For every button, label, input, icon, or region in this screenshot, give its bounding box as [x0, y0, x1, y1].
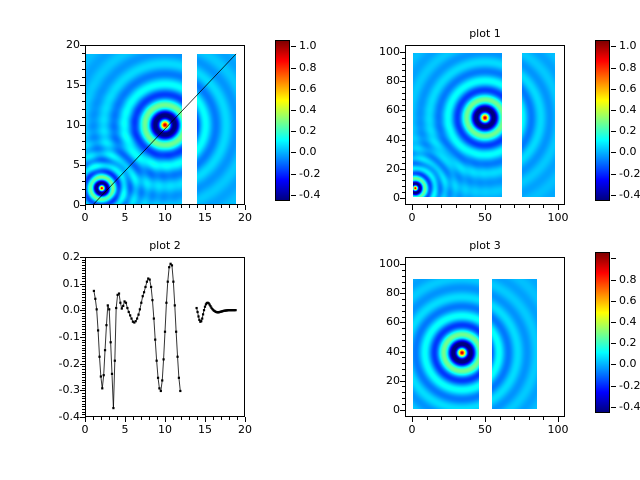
ytick-minor — [402, 311, 405, 312]
ytick-minor — [82, 406, 85, 407]
ytick-minor — [82, 181, 85, 182]
ytick-minor — [82, 414, 85, 415]
xtick-minor — [101, 205, 102, 208]
colorbar-gradient-top-left — [276, 41, 289, 200]
ytick-major — [400, 381, 405, 382]
ytick-minor — [402, 186, 405, 187]
xtick-minor — [149, 205, 150, 208]
colorbar-ticklabel: -0.4 — [619, 401, 640, 412]
colorbar-ticklabel: 0.4 — [619, 104, 637, 115]
xticklabel: 0 — [392, 212, 432, 223]
ytick-minor — [402, 174, 405, 175]
colorbar-ticklabel: 0.6 — [299, 83, 317, 94]
colorbar-ticklabel: 0.2 — [619, 125, 637, 136]
xtick-minor — [149, 417, 150, 420]
ytick-minor — [82, 292, 85, 293]
yticklabel: 20 — [357, 163, 400, 174]
colorbar-tick — [611, 258, 616, 259]
xticklabel: 5 — [105, 424, 145, 435]
colorbar-tick — [611, 152, 616, 153]
xtick-minor — [189, 205, 190, 208]
ytick-minor — [82, 313, 85, 314]
colorbar-tick — [611, 68, 616, 69]
ytick-minor — [402, 282, 405, 283]
ytick-minor — [82, 366, 85, 367]
ytick-major — [400, 198, 405, 199]
xtick-minor — [173, 417, 174, 420]
ytick-minor — [82, 189, 85, 190]
ytick-minor — [402, 340, 405, 341]
xtick-minor — [427, 205, 428, 208]
xtick-major — [85, 205, 86, 210]
ytick-minor — [82, 289, 85, 290]
colorbar-gradient-bottom-right — [596, 253, 609, 412]
ytick-minor — [402, 317, 405, 318]
xtick-major — [125, 417, 126, 422]
yticklabel: 80 — [357, 75, 400, 86]
ytick-minor — [82, 101, 85, 102]
yticklabel: 20 — [357, 375, 400, 386]
colorbar-ticklabel: 0.6 — [619, 83, 637, 94]
ytick-minor — [82, 409, 85, 410]
colorbar-tick — [611, 46, 616, 47]
ytick-minor — [82, 377, 85, 378]
ytick-minor — [402, 346, 405, 347]
ytick-minor — [82, 173, 85, 174]
ytick-minor — [82, 305, 85, 306]
axes-frame-top-left — [85, 45, 245, 205]
colorbar-tick — [291, 89, 296, 90]
ytick-minor — [82, 329, 85, 330]
xtick-minor — [456, 205, 457, 208]
colorbar-tick — [291, 68, 296, 69]
colorbar-top-right — [595, 40, 610, 201]
ytick-minor — [402, 58, 405, 59]
ytick-minor — [402, 299, 405, 300]
ytick-minor — [82, 353, 85, 354]
ytick-minor — [402, 305, 405, 306]
colorbar-ticklabel: -0.2 — [619, 380, 640, 391]
xtick-minor — [157, 205, 158, 208]
ytick-minor — [82, 369, 85, 370]
ytick-major — [80, 85, 85, 86]
colorbar-tick — [611, 407, 616, 408]
ytick-major — [80, 417, 85, 418]
ytick-minor — [82, 268, 85, 269]
colorbar-tick — [611, 301, 616, 302]
ytick-minor — [82, 281, 85, 282]
xtick-minor — [514, 205, 515, 208]
xtick-minor — [173, 205, 174, 208]
ytick-major — [400, 352, 405, 353]
xtick-minor — [543, 417, 544, 420]
xtick-minor — [229, 417, 230, 420]
colorbar-tick — [611, 343, 616, 344]
ytick-major — [80, 337, 85, 338]
xtick-minor — [500, 417, 501, 420]
xtick-minor — [529, 205, 530, 208]
xticklabel: 50 — [465, 424, 505, 435]
xticklabel: 100 — [538, 212, 578, 223]
colorbar-ticklabel: 1.0 — [619, 40, 637, 51]
ytick-minor — [402, 357, 405, 358]
ytick-minor — [82, 133, 85, 134]
ytick-minor — [82, 334, 85, 335]
ytick-minor — [82, 380, 85, 381]
xtick-minor — [441, 417, 442, 420]
xticklabel: 15 — [185, 424, 225, 435]
colorbar-ticklabel: 0.4 — [619, 316, 637, 327]
ytick-minor — [82, 117, 85, 118]
xtick-major — [165, 205, 166, 210]
xtick-minor — [529, 417, 530, 420]
xtick-minor — [221, 205, 222, 208]
xtick-minor — [141, 205, 142, 208]
ytick-minor — [82, 93, 85, 94]
xticklabel: 50 — [465, 212, 505, 223]
xtick-minor — [237, 417, 238, 420]
xtick-minor — [141, 417, 142, 420]
heatmap-top-left — [86, 46, 244, 204]
ytick-minor — [82, 308, 85, 309]
axes-frame-bottom-right — [405, 257, 565, 417]
colorbar-tick — [291, 110, 296, 111]
ytick-minor — [402, 99, 405, 100]
xtick-major — [245, 205, 246, 210]
ytick-minor — [402, 93, 405, 94]
yticklabel: 100 — [357, 258, 400, 269]
yticklabel: 0 — [37, 199, 80, 210]
ytick-major — [80, 205, 85, 206]
ytick-minor — [82, 404, 85, 405]
ytick-minor — [402, 386, 405, 387]
ytick-minor — [402, 64, 405, 65]
colorbar-ticklabel: 0.8 — [619, 62, 637, 73]
ytick-minor — [402, 180, 405, 181]
ytick-minor — [82, 385, 85, 386]
ytick-minor — [82, 149, 85, 150]
yticklabel: 60 — [357, 316, 400, 327]
lineplot-bottom-left — [86, 258, 244, 416]
ytick-minor — [402, 404, 405, 405]
ytick-minor — [82, 141, 85, 142]
yticklabel: 0.1 — [37, 278, 80, 289]
ytick-minor — [402, 334, 405, 335]
colorbar-tick — [611, 322, 616, 323]
ytick-minor — [402, 76, 405, 77]
xtick-minor — [221, 417, 222, 420]
heatmap-top-right — [406, 46, 564, 204]
ytick-minor — [82, 332, 85, 333]
yticklabel: -0.3 — [37, 384, 80, 395]
xtick-major — [412, 205, 413, 210]
xtick-major — [558, 417, 559, 422]
xtick-minor — [456, 417, 457, 420]
yticklabel: 0.2 — [37, 251, 80, 262]
xtick-minor — [93, 417, 94, 420]
xtick-major — [125, 205, 126, 210]
ytick-minor — [82, 286, 85, 287]
ytick-minor — [82, 382, 85, 383]
ytick-major — [400, 293, 405, 294]
yticklabel: 10 — [37, 119, 80, 130]
colorbar-tick — [611, 195, 616, 196]
colorbar-tick — [291, 174, 296, 175]
ytick-major — [400, 81, 405, 82]
colorbar-tick — [291, 152, 296, 153]
xtick-major — [485, 205, 486, 210]
yticklabel: 0 — [357, 192, 400, 203]
ytick-minor — [82, 398, 85, 399]
ytick-minor — [402, 105, 405, 106]
xticklabel: 15 — [185, 212, 225, 223]
ytick-minor — [82, 342, 85, 343]
xtick-major — [558, 205, 559, 210]
xtick-minor — [470, 205, 471, 208]
xtick-major — [205, 205, 206, 210]
yticklabel: 5 — [37, 159, 80, 170]
xticklabel: 20 — [225, 212, 265, 223]
ytick-minor — [82, 273, 85, 274]
ytick-minor — [402, 398, 405, 399]
xtick-minor — [117, 205, 118, 208]
ytick-minor — [82, 326, 85, 327]
ytick-minor — [402, 163, 405, 164]
ytick-major — [80, 257, 85, 258]
xtick-minor — [197, 417, 198, 420]
xtick-minor — [514, 417, 515, 420]
xtick-minor — [470, 417, 471, 420]
ytick-minor — [402, 87, 405, 88]
ytick-minor — [82, 278, 85, 279]
yticklabel: 80 — [357, 287, 400, 298]
panel-title-bottom-right: plot 3 — [405, 240, 565, 252]
ytick-minor — [402, 328, 405, 329]
ytick-minor — [82, 265, 85, 266]
axes-frame-top-right — [405, 45, 565, 205]
xtick-minor — [427, 417, 428, 420]
colorbar-ticklabel: 0.4 — [299, 104, 317, 115]
ytick-minor — [82, 157, 85, 158]
yticklabel: 15 — [37, 79, 80, 90]
xtick-minor — [189, 417, 190, 420]
ytick-minor — [82, 374, 85, 375]
colorbar-ticklabel: 0.2 — [299, 125, 317, 136]
colorbar-gradient-top-right — [596, 41, 609, 200]
ytick-minor — [82, 401, 85, 402]
colorbar-ticklabel: -0.2 — [299, 168, 320, 179]
ytick-minor — [82, 372, 85, 373]
colorbar-ticklabel: 0.0 — [299, 146, 317, 157]
panel-title-top-right: plot 1 — [405, 28, 565, 40]
ytick-minor — [82, 53, 85, 54]
ytick-major — [400, 140, 405, 141]
colorbar-tick — [611, 280, 616, 281]
yticklabel: 40 — [357, 346, 400, 357]
ytick-minor — [82, 361, 85, 362]
ytick-minor — [402, 70, 405, 71]
yticklabel: 60 — [357, 104, 400, 115]
xtick-minor — [133, 417, 134, 420]
ytick-minor — [402, 288, 405, 289]
colorbar-tick — [611, 174, 616, 175]
xticklabel: 100 — [538, 424, 578, 435]
ytick-major — [80, 125, 85, 126]
xtick-minor — [157, 417, 158, 420]
colorbar-ticklabel: 0.8 — [619, 274, 637, 285]
xtick-minor — [543, 205, 544, 208]
ytick-minor — [82, 340, 85, 341]
colorbar-bottom-right — [595, 252, 610, 413]
ytick-minor — [402, 145, 405, 146]
ytick-major — [80, 364, 85, 365]
ytick-minor — [402, 375, 405, 376]
panel-title-bottom-left: plot 2 — [85, 240, 245, 252]
yticklabel: -0.1 — [37, 331, 80, 342]
ytick-minor — [82, 324, 85, 325]
ytick-major — [400, 110, 405, 111]
colorbar-top-left — [275, 40, 290, 201]
ytick-minor — [402, 192, 405, 193]
ytick-minor — [402, 369, 405, 370]
ytick-minor — [82, 297, 85, 298]
ytick-minor — [82, 276, 85, 277]
ytick-minor — [82, 77, 85, 78]
ytick-minor — [402, 157, 405, 158]
xtick-major — [245, 417, 246, 422]
xtick-minor — [213, 205, 214, 208]
ytick-minor — [82, 396, 85, 397]
colorbar-tick — [291, 195, 296, 196]
ytick-minor — [82, 302, 85, 303]
colorbar-ticklabel: 0.2 — [619, 337, 637, 348]
colorbar-ticklabel: -0.4 — [299, 189, 320, 200]
colorbar-tick — [611, 131, 616, 132]
xtick-major — [412, 417, 413, 422]
heatmap-bottom-right — [406, 258, 564, 416]
xtick-minor — [237, 205, 238, 208]
colorbar-ticklabel: -0.4 — [619, 189, 640, 200]
ytick-minor — [402, 128, 405, 129]
ytick-minor — [82, 270, 85, 271]
ytick-major — [400, 264, 405, 265]
ytick-minor — [402, 363, 405, 364]
xtick-minor — [109, 417, 110, 420]
ytick-minor — [82, 321, 85, 322]
ytick-major — [80, 390, 85, 391]
xtick-minor — [197, 205, 198, 208]
colorbar-ticklabel: 0.0 — [619, 358, 637, 369]
xtick-minor — [133, 205, 134, 208]
ytick-major — [400, 410, 405, 411]
xtick-minor — [181, 205, 182, 208]
ytick-minor — [402, 392, 405, 393]
ytick-minor — [402, 151, 405, 152]
colorbar-ticklabel: 0.6 — [619, 295, 637, 306]
yticklabel: 100 — [357, 46, 400, 57]
ytick-minor — [82, 316, 85, 317]
colorbar-ticklabel: 0.8 — [299, 62, 317, 73]
colorbar-tick — [611, 89, 616, 90]
xtick-minor — [181, 417, 182, 420]
ytick-major — [80, 310, 85, 311]
xtick-major — [85, 417, 86, 422]
panel-top-right: plot 1 050100020406080100 1.00.80.60.40.… — [320, 0, 640, 240]
ytick-major — [400, 322, 405, 323]
ytick-minor — [402, 270, 405, 271]
yticklabel: -0.4 — [37, 411, 80, 422]
panel-bottom-left: plot 2 051015200.20.10.0-0.1-0.2-0.3-0.4 — [0, 240, 320, 480]
ytick-minor — [82, 345, 85, 346]
ytick-minor — [82, 300, 85, 301]
colorbar-ticklabel: 1.0 — [299, 40, 317, 51]
ytick-minor — [82, 388, 85, 389]
xtick-major — [485, 417, 486, 422]
colorbar-tick — [611, 110, 616, 111]
ytick-major — [80, 284, 85, 285]
yticklabel: 40 — [357, 134, 400, 145]
ytick-major — [80, 165, 85, 166]
xtick-major — [205, 417, 206, 422]
ytick-minor — [82, 348, 85, 349]
ytick-minor — [82, 109, 85, 110]
ytick-minor — [82, 358, 85, 359]
xticklabel: 20 — [225, 424, 265, 435]
colorbar-tick — [611, 386, 616, 387]
xtick-minor — [101, 417, 102, 420]
ytick-minor — [402, 276, 405, 277]
ytick-major — [400, 169, 405, 170]
colorbar-tick — [291, 131, 296, 132]
ytick-minor — [82, 69, 85, 70]
xtick-minor — [117, 417, 118, 420]
ytick-minor — [82, 412, 85, 413]
colorbar-ticklabel: 0.0 — [619, 146, 637, 157]
axes-frame-bottom-left — [85, 257, 245, 417]
ytick-minor — [82, 350, 85, 351]
xticklabel: 10 — [145, 424, 185, 435]
xtick-major — [165, 417, 166, 422]
xtick-minor — [441, 205, 442, 208]
ytick-minor — [82, 356, 85, 357]
ytick-minor — [402, 134, 405, 135]
xticklabel: 0 — [65, 212, 105, 223]
ytick-major — [400, 52, 405, 53]
ytick-minor — [82, 294, 85, 295]
panel-top-left: 0510152005101520 1.00.80.60.40.20.0-0.2-… — [0, 0, 320, 240]
figure-canvas: 0510152005101520 1.00.80.60.40.20.0-0.2-… — [0, 0, 640, 480]
ytick-minor — [402, 116, 405, 117]
xticklabel: 10 — [145, 212, 185, 223]
colorbar-tick — [611, 364, 616, 365]
ytick-minor — [82, 262, 85, 263]
yticklabel: 20 — [37, 39, 80, 50]
xtick-minor — [229, 205, 230, 208]
xticklabel: 0 — [65, 424, 105, 435]
ytick-major — [80, 45, 85, 46]
xticklabel: 5 — [105, 212, 145, 223]
ytick-minor — [402, 122, 405, 123]
yticklabel: -0.2 — [37, 358, 80, 369]
ytick-minor — [82, 260, 85, 261]
ytick-minor — [82, 61, 85, 62]
xtick-minor — [109, 205, 110, 208]
panel-bottom-right: plot 3 050100020406080100 0.80.60.40.20.… — [320, 240, 640, 480]
colorbar-tick — [291, 46, 296, 47]
xtick-minor — [500, 205, 501, 208]
ytick-minor — [82, 393, 85, 394]
xticklabel: 0 — [392, 424, 432, 435]
